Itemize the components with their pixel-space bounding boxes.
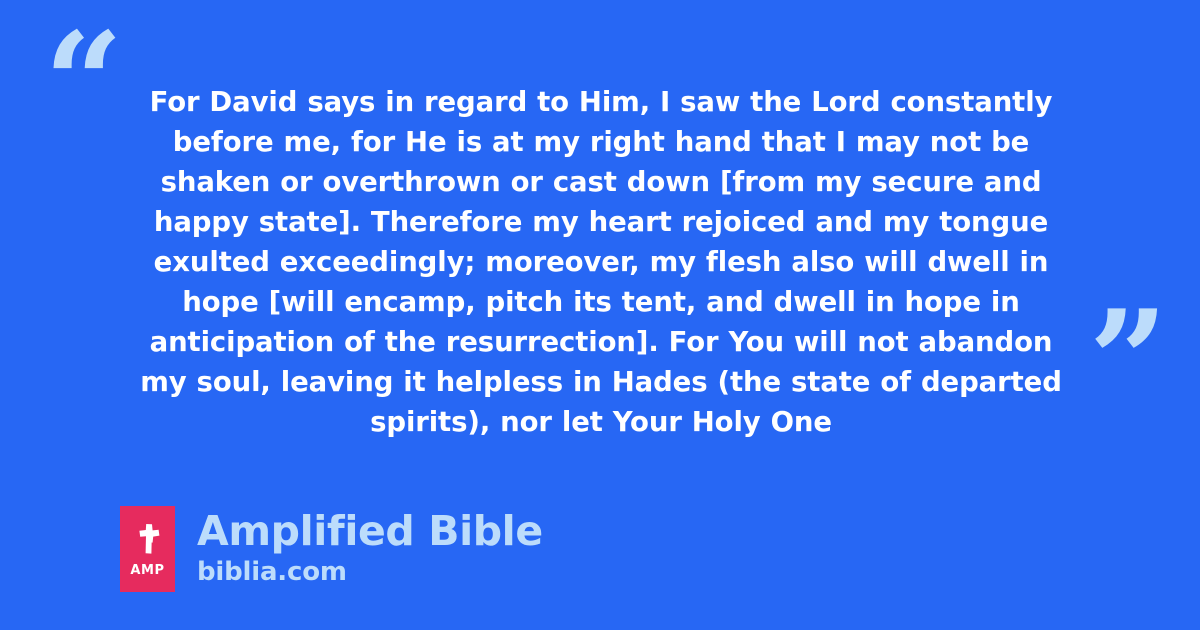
- brand-url[interactable]: biblia.com: [197, 556, 543, 588]
- quote-body: For David says in regard to Him, I saw t…: [126, 82, 1076, 442]
- verse-image-card: “ For David says in regard to Him, I saw…: [0, 0, 1200, 630]
- brand-text-block: Amplified Bible biblia.com: [197, 506, 543, 588]
- quote-text: For David says in regard to Him, I saw t…: [126, 82, 1076, 442]
- cross-icon: [133, 520, 163, 556]
- brand-block: AMP Amplified Bible biblia.com: [120, 506, 543, 592]
- amp-logo-abbr: AMP: [130, 563, 164, 578]
- amp-logo-badge: AMP: [120, 506, 175, 592]
- brand-title: Amplified Bible: [197, 508, 543, 554]
- opening-quote-icon: “: [44, 14, 121, 152]
- closing-quote-icon: ”: [1089, 292, 1166, 430]
